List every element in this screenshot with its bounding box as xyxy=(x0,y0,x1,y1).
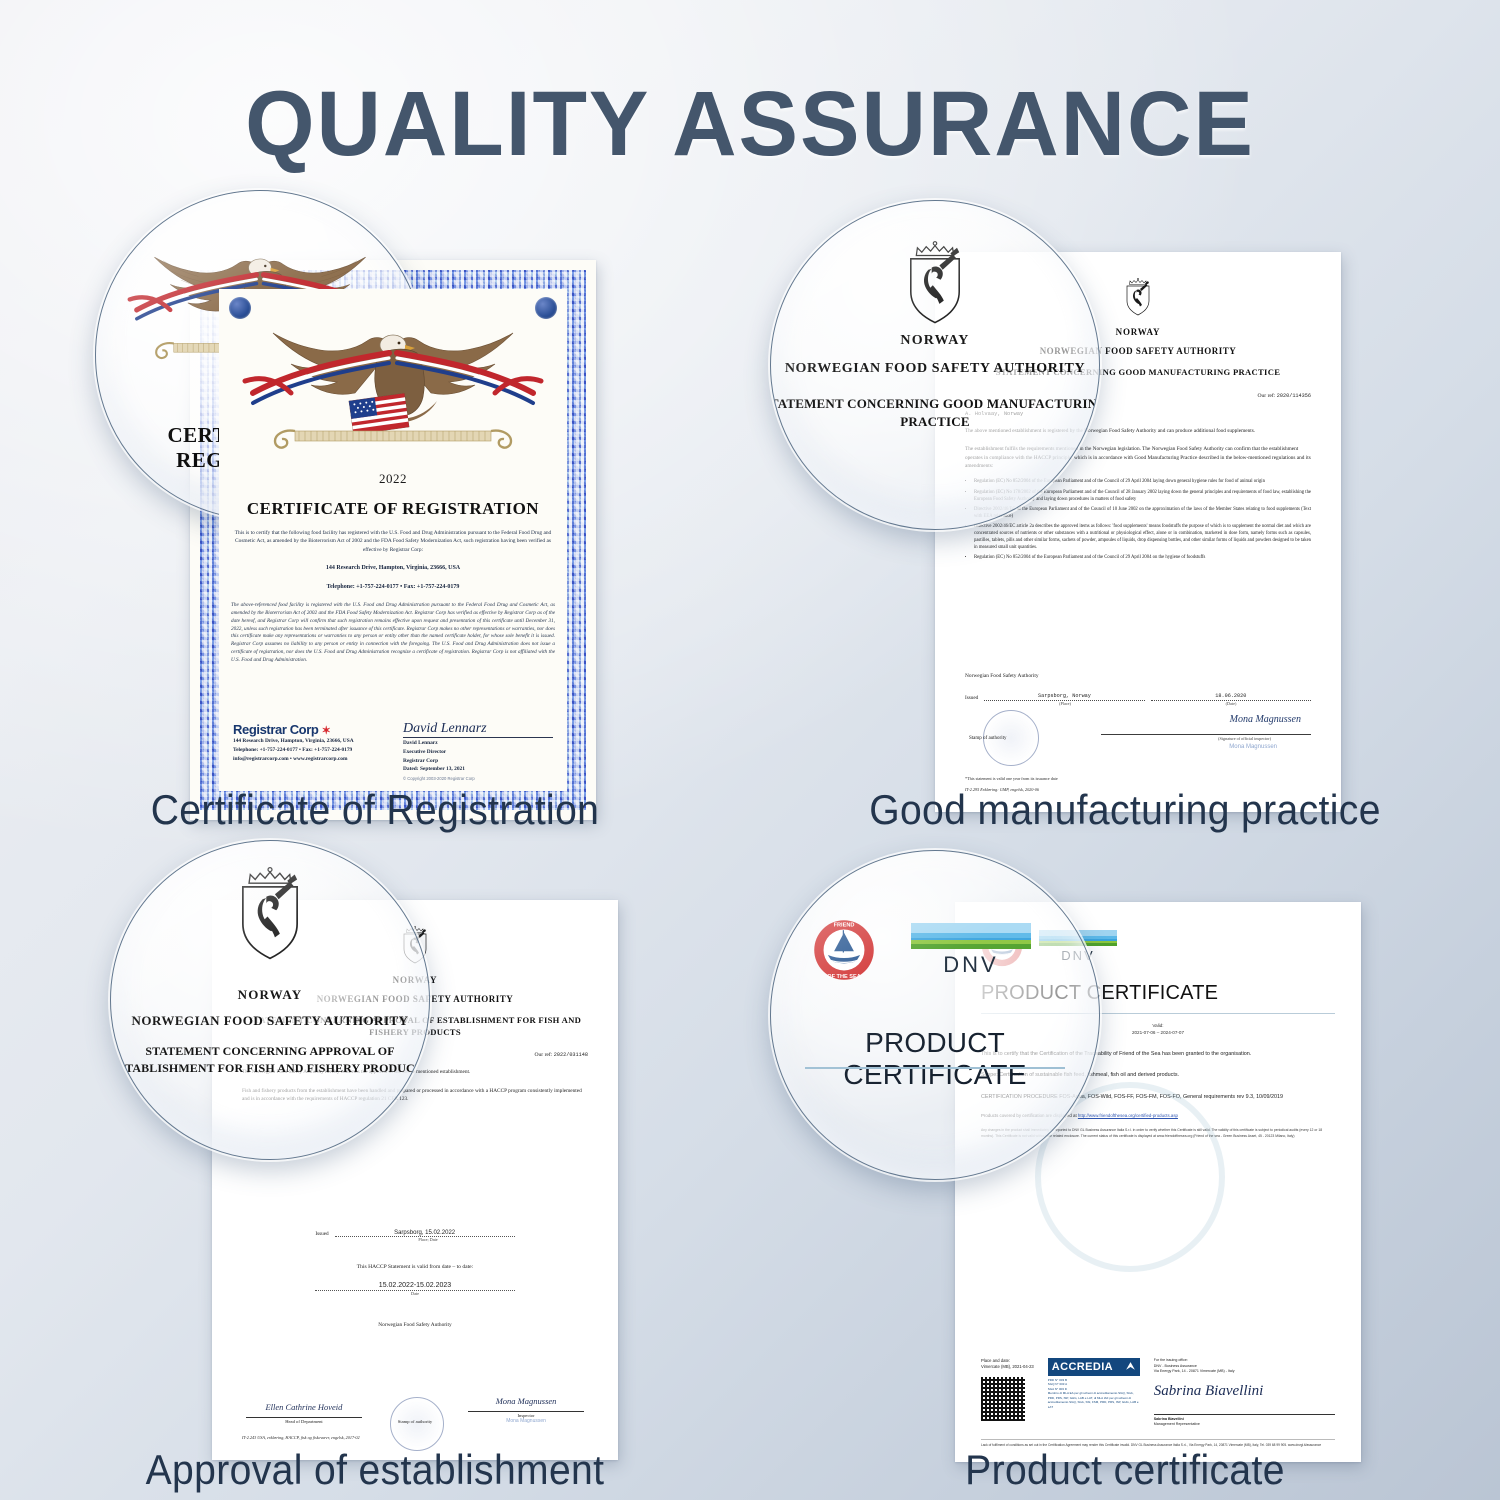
issued-label: Issued xyxy=(315,1231,328,1237)
issuer-web: info@registrarcorp.com • www.registrarco… xyxy=(233,755,393,764)
signing-authority: Norwegian Food Safety Authority xyxy=(965,673,1311,679)
dnv-logo-icon: DNV xyxy=(911,923,1031,978)
page-title: QUALITY ASSURANCE xyxy=(23,72,1478,177)
certificate-footer: Registrar Corp ✶ 144 Research Drive, Ham… xyxy=(233,722,553,781)
issued-sublabel: Place; Date xyxy=(272,1237,584,1242)
stamp-label: Stamp of authority xyxy=(362,1419,468,1424)
authority-stamp-icon xyxy=(390,1397,444,1451)
signature-script: Mona Magnussen xyxy=(1230,714,1301,725)
magnified-statement: STATEMENT CONCERNING APPROVAL OF ESTABLI… xyxy=(110,1043,430,1077)
certificate-body: This is to certify that the following fo… xyxy=(231,529,555,554)
date-sublabel: (Date) xyxy=(1151,701,1311,706)
norway-coat-of-arms-icon xyxy=(233,867,307,966)
ref-value: 2022/031148 xyxy=(554,1052,588,1058)
certificate-heading: CERTIFICATE OF REGISTRATION xyxy=(231,499,555,519)
red-star-icon: ✶ xyxy=(322,725,331,737)
certificate-card-registration[interactable]: CERTIFICATE OF REGISTRATION 2022 CERTIFI… xyxy=(0,180,750,840)
stamp-and-signature: Stamp of authority Mona Magnussen (Signa… xyxy=(965,710,1311,772)
validity-range: 15.02.2022-15.02.2023 xyxy=(246,1282,584,1289)
qr-code-icon[interactable] xyxy=(981,1377,1025,1421)
magnified-content: NORWAY NORWEGIAN FOOD SAFETY AUTHORITY S… xyxy=(771,201,1099,529)
caption-product: Product certificate xyxy=(776,1446,1474,1494)
certificate-year-value: 2022 xyxy=(231,471,555,487)
ref-label: Our ref: xyxy=(1257,393,1275,399)
norway-coat-of-arms-icon xyxy=(1123,278,1153,316)
signer-org: Registrar Corp xyxy=(403,757,553,766)
ref-value: 2020/114356 xyxy=(1277,393,1311,399)
place-date-block: Place and date: Vimercate (MB), 2021-04-… xyxy=(981,1358,1034,1421)
accredia-wordmark: ACCREDIA xyxy=(1052,1361,1113,1373)
signature-sublabel: (Signature of official inspector) xyxy=(1218,736,1271,741)
ref-label: Our ref: xyxy=(534,1052,552,1058)
norway-coat-of-arms-icon xyxy=(902,241,968,330)
magnified-authority: NORWEGIAN FOOD SAFETY AUTHORITY xyxy=(771,361,1099,377)
signature-block: David Lennarz David Lennarz Executive Di… xyxy=(403,722,553,781)
stamp-label: Stamp of authority xyxy=(969,736,1007,741)
valid-range: 2021-07-06 – 2024-07-07 xyxy=(1132,1030,1184,1035)
magnified-logo-row: FRIEND OF THE SEA DNV xyxy=(813,919,1031,981)
magnified-country: NORWAY xyxy=(111,987,429,1003)
signer-title: Executive Director xyxy=(403,748,553,757)
magnified-authority: NORWEGIAN FOOD SAFETY AUTHORITY xyxy=(111,1013,429,1029)
magnified-title: PRODUCT CERTIFICATE xyxy=(771,1027,1099,1091)
signature-script: David Lennarz xyxy=(403,722,553,736)
place-sublabel: (Place) xyxy=(985,701,1145,706)
accredia-logo-icon: ACCREDIA PRD N° 003 BSGQ N° 003 ASGA N° … xyxy=(1048,1358,1140,1410)
issuing-address: Via Energy Park, 14 - 20871 Vimercate (M… xyxy=(1154,1369,1335,1375)
date-sublabel: Date xyxy=(246,1291,584,1296)
signature-left: Ellen Cathrine Hoveid Head of Department xyxy=(246,1402,362,1424)
issued-value: Sarpsborg, 15.02.2022 xyxy=(335,1230,515,1237)
issuer-address: 144 Research Drive, Hampton, Virginia, 2… xyxy=(233,737,393,746)
issued-place: Sarpsborg, Norway xyxy=(984,693,1144,701)
issuer-phone: Telephone: +1-757-224-0177 • Fax: +1-757… xyxy=(233,746,393,755)
certificate-sheet-registration: CERTIFICATE OF REGISTRATION 2022 CERTIFI… xyxy=(190,260,596,820)
certificate-card-approval[interactable]: NORWAY NORWEGIAN FOOD SAFETY AUTHORITY S… xyxy=(0,840,750,1500)
stamp-column: Stamp of authority xyxy=(362,1407,468,1424)
signature-script: Mona Magnussen xyxy=(468,1396,584,1406)
issued-date: 18.06.2020 xyxy=(1151,693,1311,701)
validity-section: Issued Sarpsborg, 15.02.2022 Place; Date… xyxy=(246,1230,584,1328)
certificate-content: CERTIFICATE OF REGISTRATION 2022 CERTIFI… xyxy=(219,289,567,791)
magnifier-lens-product[interactable]: FRIEND OF THE SEA DNV PRODUCT CERTIFICAT… xyxy=(770,850,1100,1180)
issuer-block: For the issuing office: DNV - Business A… xyxy=(1154,1358,1335,1428)
copyright-notice: © Copyright 2003-2020 Registrar Corp xyxy=(403,776,553,781)
signature-section: Norwegian Food Safety Authority Issued S… xyxy=(965,673,1311,792)
facility-phone: Telephone: +1-757-224-0177 • Fax: +1-757… xyxy=(231,583,555,592)
signature-digital-name: Mona Magnussen xyxy=(1229,744,1277,750)
svg-text:FRIEND: FRIEND xyxy=(834,922,855,928)
svg-text:OF THE SEA: OF THE SEA xyxy=(827,974,860,980)
certificate-card-product[interactable]: DNV PRODUCT CERTIFICATE Valid: 2021-07-0… xyxy=(750,840,1500,1500)
magnifier-lens-approval[interactable]: NORWAY NORWEGIAN FOOD SAFETY AUTHORITY S… xyxy=(110,840,430,1160)
caption-certificate-registration: Certificate of Registration xyxy=(26,786,724,834)
dated-value: September 13, 2021 xyxy=(420,766,465,772)
signature-digital-name: Mona Magnussen xyxy=(468,1418,584,1424)
signature-script: Ellen Cathrine Hoveid xyxy=(246,1402,362,1412)
caption-approval: Approval of establishment xyxy=(26,1446,724,1494)
list-item: Regulation (EC) No 852/2004 of the Europ… xyxy=(974,554,1311,561)
form-code: IT-2.243 USA, erklæring, HACCP, fisk og … xyxy=(242,1435,360,1440)
signer-title: Management Representative xyxy=(1154,1422,1335,1428)
place-value: Vimercate (MB), 2021-04-23 xyxy=(981,1364,1034,1371)
issued-row: Issued Sarpsborg, Norway 18.06.2020 xyxy=(965,693,1311,701)
signer-title: Head of Department xyxy=(246,1419,362,1424)
certificate-footer: Place and date: Vimercate (MB), 2021-04-… xyxy=(981,1358,1335,1428)
certificate-grid: CERTIFICATE OF REGISTRATION 2022 CERTIFI… xyxy=(0,180,1500,1500)
friend-of-the-sea-logo-icon: FRIEND OF THE SEA xyxy=(813,919,875,981)
signature-row: Ellen Cathrine Hoveid Head of Department… xyxy=(246,1396,584,1424)
dated-label: Dated: xyxy=(403,766,419,772)
facility-address: 144 Research Drive, Hampton, Virginia, 2… xyxy=(231,564,555,573)
validity-text: This HACCP Statement is valid from date … xyxy=(246,1264,584,1270)
certificate-disclaimer: The above-referenced food facility is re… xyxy=(231,602,555,664)
magnified-content: NORWAY NORWEGIAN FOOD SAFETY AUTHORITY S… xyxy=(111,841,429,1159)
dnv-wordmark: DNV xyxy=(911,952,1031,978)
magnified-statement: STATEMENT CONCERNING GOOD MANUFACTURING … xyxy=(770,395,1100,430)
signature-script: Sabrina Biavellini xyxy=(1154,1383,1335,1400)
ornate-border: CERTIFICATE OF REGISTRATION 2022 CERTIFI… xyxy=(200,270,586,810)
issuer-name: Registrar Corp xyxy=(233,722,318,737)
magnifier-lens-gmp[interactable]: NORWAY NORWEGIAN FOOD SAFETY AUTHORITY S… xyxy=(770,200,1100,530)
valid-label: Valid: xyxy=(1152,1023,1163,1028)
caption-gmp: Good manufacturing practice xyxy=(776,786,1474,834)
certificate-card-gmp[interactable]: NORWAY NORWEGIAN FOOD SAFETY AUTHORITY S… xyxy=(750,180,1500,840)
signing-authority: Norwegian Food Safety Authority xyxy=(246,1322,584,1328)
issuer-block: Registrar Corp ✶ 144 Research Drive, Ham… xyxy=(233,722,393,781)
validity-footnote: *This statement is valid one year from i… xyxy=(965,776,1311,781)
magnified-content: FRIEND OF THE SEA DNV PRODUCT CERTIFICAT… xyxy=(771,851,1099,1179)
signer-name: David Lennarz xyxy=(403,739,553,748)
signature-right: Mona Magnussen Inspector Mona Magnussen xyxy=(468,1396,584,1424)
issued-label: Issued xyxy=(965,695,978,701)
issued-row: Issued Sarpsborg, 15.02.2022 xyxy=(246,1230,584,1237)
place-label: Place and date: xyxy=(981,1358,1034,1365)
eagle-emblem-icon xyxy=(231,301,555,451)
magnified-country: NORWAY xyxy=(771,333,1099,349)
